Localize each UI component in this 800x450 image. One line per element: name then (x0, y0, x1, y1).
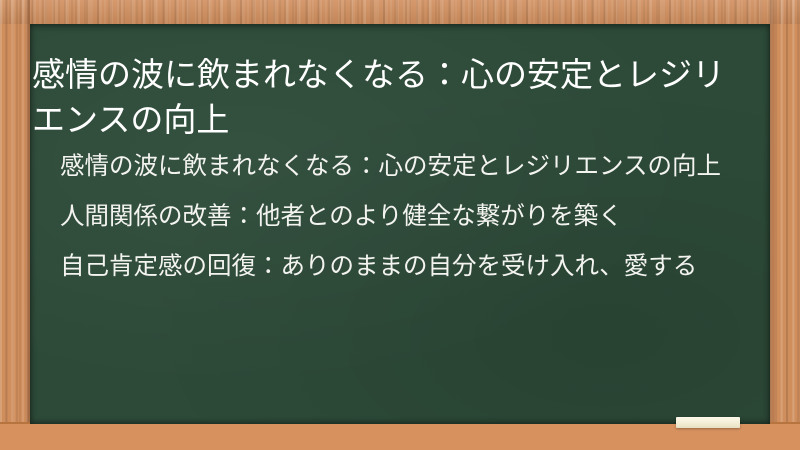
slide-title: 感情の波に飲まれなくなる：心の安定とレジリエンスの向上 (32, 52, 744, 142)
list-item: 人間関係の改善：他者とのより健全な繋がりを築く (60, 196, 744, 236)
slide-bullet-list: 感情の波に飲まれなくなる：心の安定とレジリエンスの向上 人間関係の改善：他者との… (60, 146, 744, 296)
chalkboard-surface: 感情の波に飲まれなくなる：心の安定とレジリエンスの向上 感情の波に飲まれなくなる… (30, 24, 770, 424)
frame-top-plank (0, 0, 800, 24)
list-item: 感情の波に飲まれなくなる：心の安定とレジリエンスの向上 (60, 146, 744, 186)
list-item: 自己肯定感の回復：ありのままの自分を受け入れ、愛する (60, 246, 744, 286)
frame-right-plank (770, 0, 800, 450)
slide-canvas: 感情の波に飲まれなくなる：心の安定とレジリエンスの向上 感情の波に飲まれなくなる… (0, 0, 800, 450)
frame-left-plank (0, 0, 30, 450)
chalk-stick-icon (676, 417, 740, 428)
